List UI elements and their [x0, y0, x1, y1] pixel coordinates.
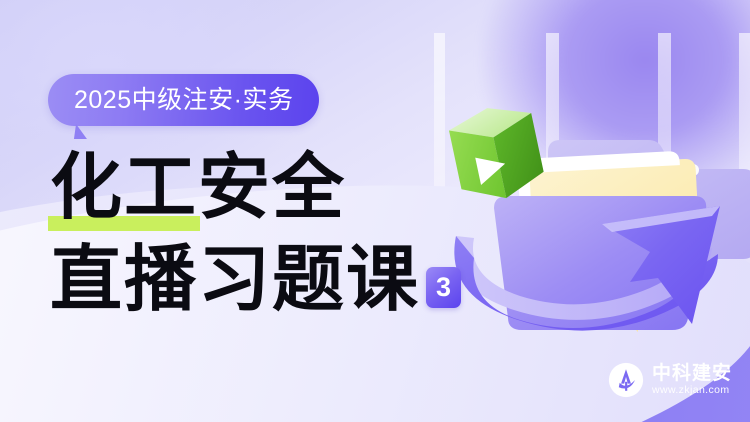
pill-tail-icon — [74, 124, 100, 139]
episode-number-badge: 3 — [426, 267, 461, 308]
headline-line-1-wrap: 化工安全 — [50, 152, 461, 228]
folder-illustration — [420, 30, 750, 360]
headline-line-1: 化工安全 — [50, 148, 346, 228]
logo-mark-icon — [608, 362, 644, 398]
headline-line-2-wrap: 直播习题课 3 — [50, 240, 461, 316]
headline-block: 化工安全 直播习题课 3 — [50, 152, 461, 316]
brand-logo[interactable]: 中科建安 www.zkjan.com — [608, 362, 732, 398]
headline-line-2: 直播习题课 — [50, 244, 420, 316]
pill-body: 2025中级注安·实务 — [48, 74, 319, 126]
brand-name: 中科建安 — [652, 364, 732, 383]
course-banner: 2025中级注安·实务 化工安全 直播习题课 3 中科建安 www.zkjan.… — [0, 0, 750, 422]
logo-text-block: 中科建安 www.zkjan.com — [652, 364, 732, 396]
brand-url: www.zkjan.com — [652, 385, 732, 396]
pill-label: 2025中级注安·实务 — [74, 88, 293, 113]
course-subtitle-pill: 2025中级注安·实务 — [48, 74, 319, 126]
